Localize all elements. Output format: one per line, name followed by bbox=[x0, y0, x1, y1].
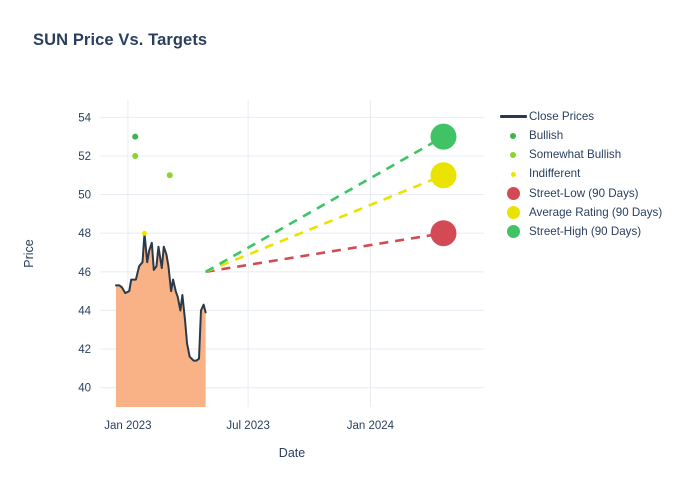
svg-text:Jul 2023: Jul 2023 bbox=[226, 420, 269, 432]
legend-symbol-dot bbox=[497, 225, 529, 238]
svg-text:50: 50 bbox=[78, 190, 91, 202]
svg-text:48: 48 bbox=[78, 228, 91, 240]
legend-item[interactable]: Close Prices bbox=[497, 107, 697, 126]
legend-item-label: Street-Low (90 Days) bbox=[529, 188, 639, 200]
legend-dot-swatch bbox=[507, 187, 520, 200]
y-axis-tick-labels: 4042444648505254 bbox=[78, 112, 91, 394]
legend-item-label: Street-High (90 Days) bbox=[529, 226, 641, 238]
legend-item-label: Indifferent bbox=[529, 168, 580, 180]
legend-symbol-dot bbox=[497, 206, 529, 219]
x-axis-title: Date bbox=[279, 446, 305, 460]
legend-item-label: Somewhat Bullish bbox=[529, 149, 621, 161]
legend-item[interactable]: Street-Low (90 Days) bbox=[497, 184, 697, 203]
legend-dot-swatch bbox=[511, 172, 516, 177]
legend-dot-swatch bbox=[510, 133, 516, 139]
legend-symbol-dot bbox=[497, 172, 529, 177]
legend-item[interactable]: Indifferent bbox=[497, 165, 697, 184]
legend-item-label: Bullish bbox=[529, 130, 563, 142]
legend-dot-swatch bbox=[510, 152, 516, 158]
chart-container: SUN Price Vs. Targets 4042444648505254 J… bbox=[0, 0, 700, 500]
x-axis-tick-labels: Jan 2023Jul 2023Jan 2024 bbox=[104, 420, 394, 432]
legend-dot-swatch bbox=[507, 225, 520, 238]
svg-text:46: 46 bbox=[78, 267, 91, 279]
legend-symbol-dot bbox=[497, 152, 529, 158]
legend-item[interactable]: Bullish bbox=[497, 126, 697, 145]
legend-symbol-line bbox=[497, 115, 529, 118]
legend-item[interactable]: Street-High (90 Days) bbox=[497, 222, 697, 241]
svg-text:42: 42 bbox=[78, 344, 91, 356]
legend-item[interactable]: Average Rating (90 Days) bbox=[497, 203, 697, 222]
legend-line-swatch bbox=[500, 115, 527, 118]
data-series-group bbox=[116, 124, 457, 407]
legend-symbol-dot bbox=[497, 187, 529, 200]
svg-text:54: 54 bbox=[78, 112, 91, 124]
legend-dot-swatch bbox=[507, 206, 520, 219]
svg-text:52: 52 bbox=[78, 151, 91, 163]
legend-item[interactable]: Somewhat Bullish bbox=[497, 145, 697, 164]
y-axis-title: Price bbox=[22, 239, 36, 268]
svg-text:40: 40 bbox=[78, 383, 91, 395]
svg-text:44: 44 bbox=[78, 305, 91, 317]
plot-area: 4042444648505254 Jan 2023Jul 2023Jan 202… bbox=[0, 0, 700, 500]
legend-symbol-dot bbox=[497, 133, 529, 139]
legend-item-label: Close Prices bbox=[529, 111, 594, 123]
svg-text:Jan 2024: Jan 2024 bbox=[347, 420, 395, 432]
svg-text:Jan 2023: Jan 2023 bbox=[104, 420, 151, 432]
legend-item-label: Average Rating (90 Days) bbox=[529, 207, 662, 219]
chart-legend: Close PricesBullishSomewhat BullishIndif… bbox=[497, 107, 697, 241]
